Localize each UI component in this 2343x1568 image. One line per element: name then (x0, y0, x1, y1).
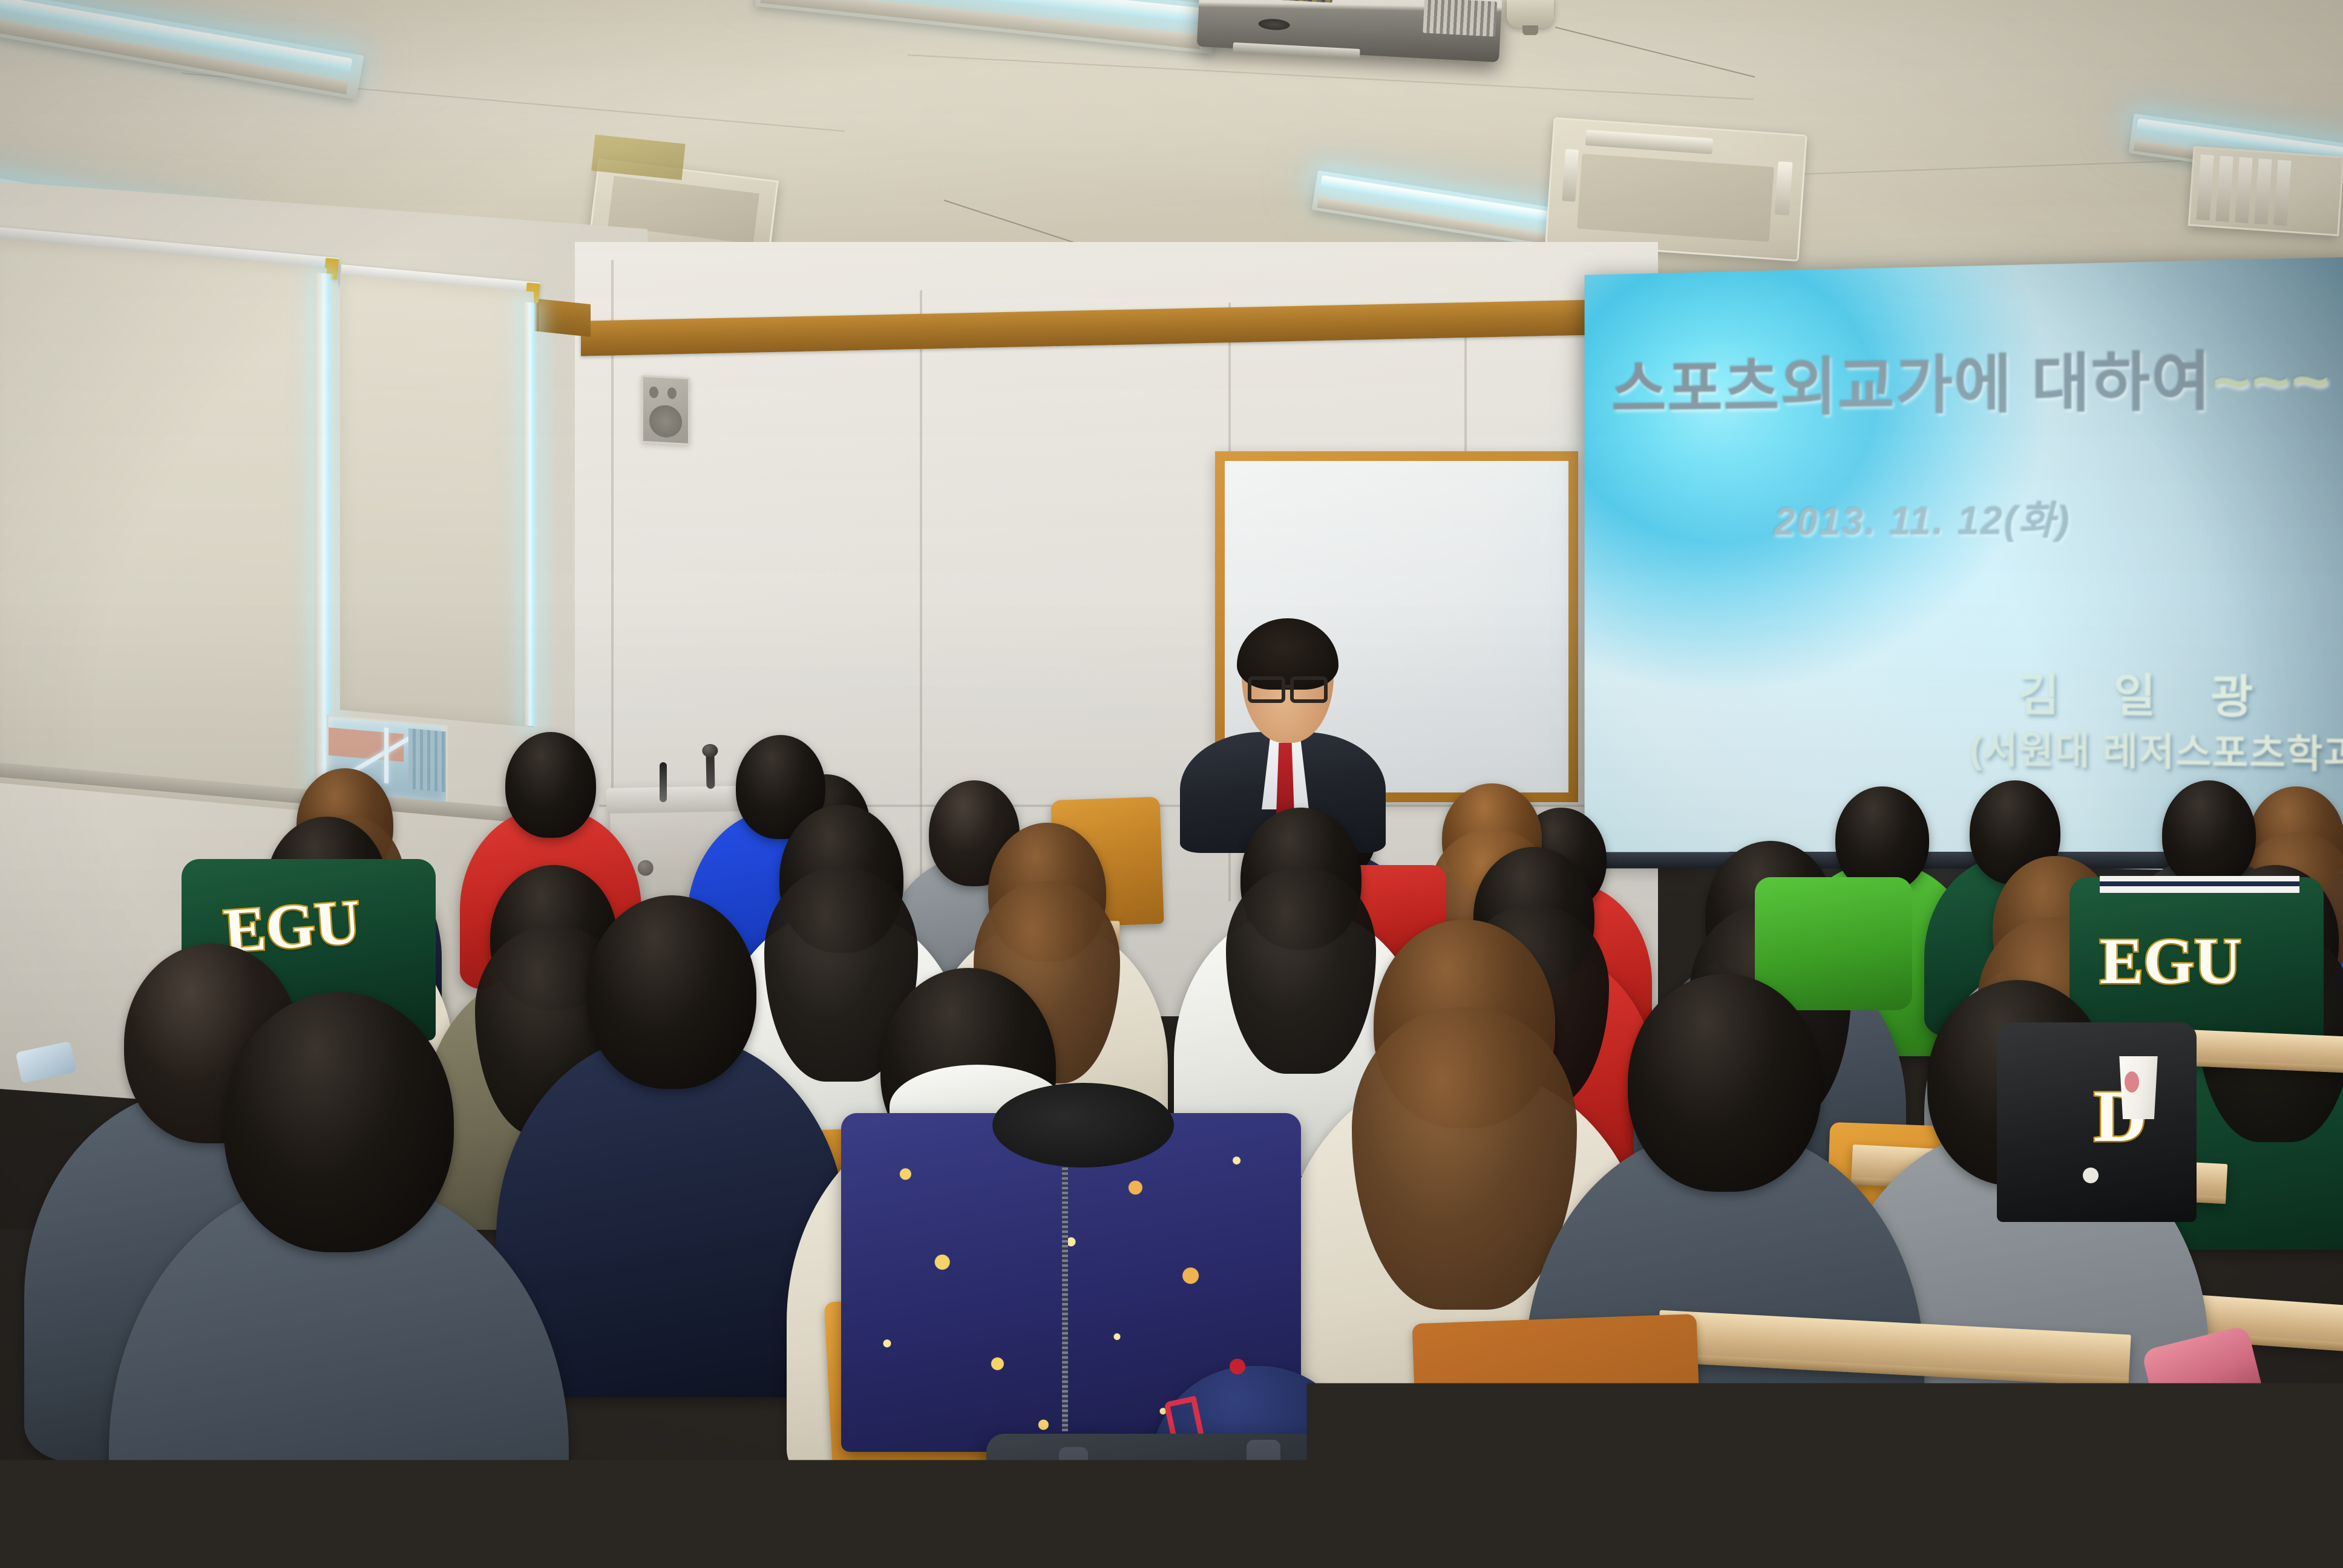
presenter-glasses-right (1290, 676, 1328, 703)
student-front-3-head (587, 895, 756, 1089)
jacket-fur-collar (992, 1083, 1174, 1168)
backpack-front (986, 1434, 1628, 1568)
presenter-glasses-bridge (1285, 685, 1293, 688)
presenter-glasses-icon (1248, 676, 1285, 703)
paper-cup (2117, 1056, 2160, 1119)
varsity-snap-button (2083, 1168, 2099, 1183)
presenter (1174, 581, 1416, 835)
varsity-collar-stripes-right (2100, 876, 2299, 893)
student-front-6-head (1628, 974, 1821, 1192)
pen (660, 762, 667, 802)
lecture-hall-photo: 스포츠외교가에 대하여~~~ 2013. 11. 12(화) 김 일 광 (서원… (0, 0, 2343, 1568)
student-back-1-head (505, 732, 596, 838)
cap-button (1230, 1359, 1245, 1374)
student-front-2 (109, 992, 569, 1568)
jacket-zipper (1062, 1134, 1068, 1432)
student-front-2-head (224, 992, 454, 1252)
